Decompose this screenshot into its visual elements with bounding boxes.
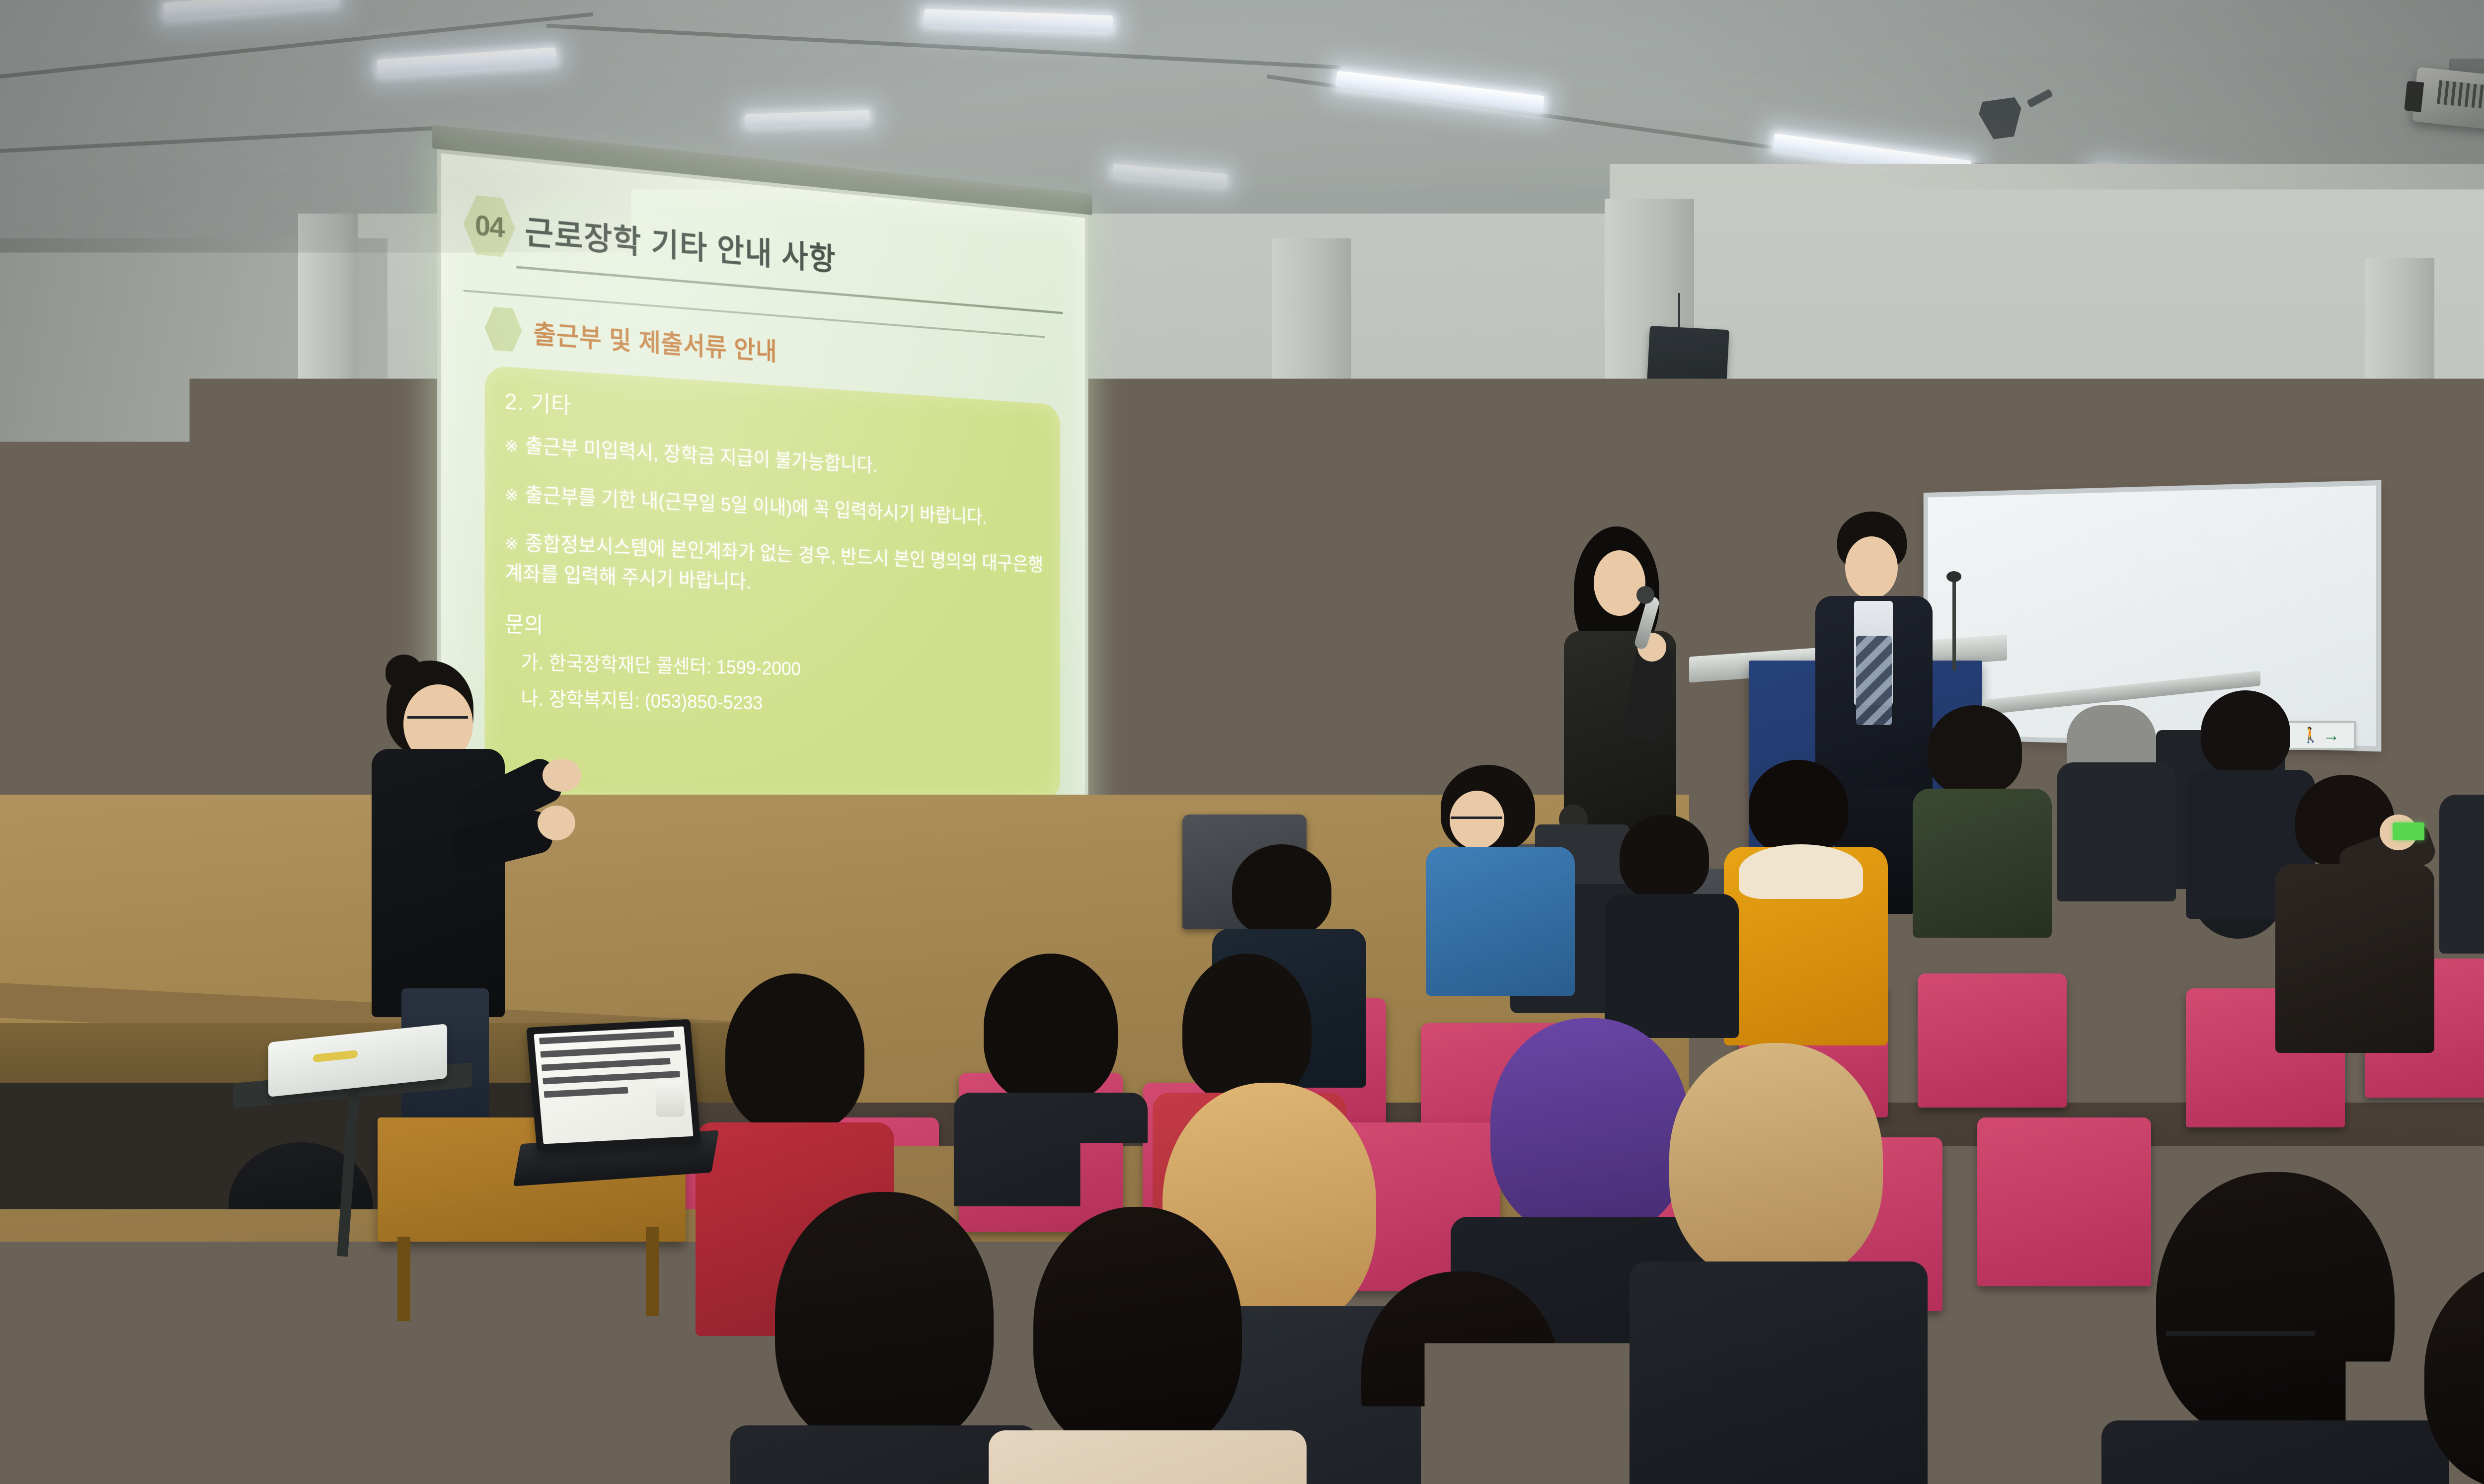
staff-face bbox=[1845, 536, 1898, 599]
projector-label-strip bbox=[313, 1050, 358, 1062]
hexagon-bullet-icon bbox=[485, 306, 522, 352]
paper-cup bbox=[656, 1080, 685, 1117]
audience-hair bbox=[1620, 815, 1709, 899]
audience-coat-beige bbox=[989, 1430, 1307, 1484]
audience-jacket bbox=[1913, 789, 2052, 938]
slide-content-box: 2. 기타 ※출근부 미입력시, 장학금 지급이 불가능합니다. ※출근부를 기… bbox=[485, 366, 1061, 801]
audience-hair bbox=[2201, 690, 2290, 775]
audience-hair bbox=[775, 1192, 994, 1450]
building-outside bbox=[2445, 458, 2484, 532]
bullet-marker: ※ bbox=[505, 534, 518, 554]
arrow-right-icon: → bbox=[2323, 727, 2340, 744]
presenter-face bbox=[1594, 550, 1645, 616]
caption-line bbox=[540, 1044, 681, 1058]
slide-title: 근로장학 기타 안내 사항 bbox=[525, 206, 836, 280]
audience-jacket bbox=[2275, 864, 2434, 1053]
audience-glasses-icon bbox=[1451, 816, 1502, 824]
auditorium-seat[interactable] bbox=[1977, 1117, 2151, 1286]
audience-jacket bbox=[1605, 894, 1739, 1038]
running-person-icon: 🚶 bbox=[2301, 728, 2320, 743]
exit-sign: 🚶 → bbox=[2285, 721, 2356, 750]
audience-hair-blonde bbox=[1669, 1043, 1883, 1281]
microphone-capsule-icon bbox=[1636, 586, 1654, 604]
contact-value: 1599-2000 bbox=[716, 657, 801, 679]
slide-bullet-2: ※출근부를 기한 내(근무일 5일 이내)에 꼭 입력하시기 바랍니다. bbox=[505, 479, 1043, 534]
audience-hair bbox=[1033, 1207, 1242, 1455]
smartphone-screen[interactable] bbox=[2393, 822, 2424, 840]
interpreter-hand-upper bbox=[543, 759, 581, 792]
bullet-text: 출근부 미입력시, 장학금 지급이 불가능합니다. bbox=[525, 434, 878, 476]
audience-jacket bbox=[2439, 795, 2484, 954]
exterior-window-pane bbox=[2450, 467, 2479, 496]
audience-hood-lining bbox=[1739, 844, 1863, 899]
audience-hair bbox=[0, 1232, 209, 1484]
projector-vent bbox=[2437, 80, 2484, 112]
caption-line bbox=[539, 1031, 674, 1044]
caption-line bbox=[544, 1087, 628, 1098]
slide-subtitle: 출근부 및 제출서류 안내 bbox=[533, 313, 777, 367]
wall-column-mid bbox=[1272, 238, 1351, 824]
audience-jacket bbox=[1426, 847, 1575, 996]
audience-hair bbox=[984, 954, 1118, 1103]
interpreter-hand-lower bbox=[538, 806, 575, 840]
audience-jacket bbox=[1630, 1261, 1928, 1484]
bullet-text: 종합정보시스템에 본인계좌가 없는 경우, 반드시 본인 명의의 대구은행 계좌… bbox=[505, 532, 1043, 593]
slide-contact-heading: 문의 bbox=[505, 606, 1043, 653]
audience-hair bbox=[1232, 844, 1331, 936]
audience-jacket bbox=[2057, 762, 2176, 901]
audience-cap-icon bbox=[2067, 705, 2156, 765]
interpreter-hair-bun bbox=[386, 655, 422, 688]
table-leg bbox=[397, 1237, 410, 1321]
audience-hair bbox=[1361, 1271, 1560, 1484]
auditorium-seat[interactable] bbox=[1918, 973, 2067, 1108]
houndstooth-garment bbox=[199, 1254, 407, 1463]
window bbox=[2424, 447, 2484, 705]
audience-hair bbox=[1182, 954, 1312, 1103]
window-blind-slat[interactable] bbox=[2430, 671, 2484, 684]
audience-hair bbox=[725, 973, 864, 1132]
audience-hair-purple bbox=[1490, 1018, 1689, 1237]
contact-value: (053)850-5233 bbox=[645, 690, 763, 714]
wall-outlet-box bbox=[1411, 705, 1453, 738]
wall-speaker-icon bbox=[1644, 326, 1729, 444]
wall-panel-box-1 bbox=[1490, 616, 1545, 675]
window-blind-slat[interactable] bbox=[2430, 527, 2484, 540]
caption-line bbox=[542, 1058, 671, 1071]
bullet-marker: ※ bbox=[505, 485, 518, 505]
window-blind-slat[interactable] bbox=[2430, 602, 2484, 615]
audience-hair bbox=[1928, 705, 2022, 795]
slide-bullet-3: ※종합정보시스템에 본인계좌가 없는 경우, 반드시 본인 명의의 대구은행 계… bbox=[505, 527, 1043, 607]
audience-glasses-icon bbox=[2166, 1331, 2315, 1339]
bullet-text: 출근부를 기한 내(근무일 5일 이내)에 꼭 입력하시기 바랍니다. bbox=[525, 483, 987, 528]
projector-lens-icon bbox=[2404, 81, 2424, 112]
slide-contact-1: 가. 한국장학재단 콜센터: 1599-2000 bbox=[505, 646, 1043, 686]
interpreter-glasses-icon bbox=[407, 716, 468, 724]
audience-hair bbox=[1749, 760, 1848, 854]
audience-jacket bbox=[2101, 1420, 2449, 1484]
lecture-hall-photo: 🚶 → 04 근로장학 기타 안내 사항 출근부 및 제출서류 안내 2. 기타… bbox=[0, 0, 2484, 1484]
bullet-marker: ※ bbox=[505, 437, 518, 456]
slide-section-number: 04 bbox=[464, 194, 515, 258]
staff-scarf bbox=[1856, 636, 1892, 725]
audience-hair bbox=[2156, 1172, 2395, 1440]
table-leg bbox=[646, 1227, 659, 1316]
slide-contact-2: 나. 장학복지팀: (053)850-5233 bbox=[505, 682, 1043, 720]
window-blind-slat[interactable] bbox=[2430, 453, 2484, 466]
